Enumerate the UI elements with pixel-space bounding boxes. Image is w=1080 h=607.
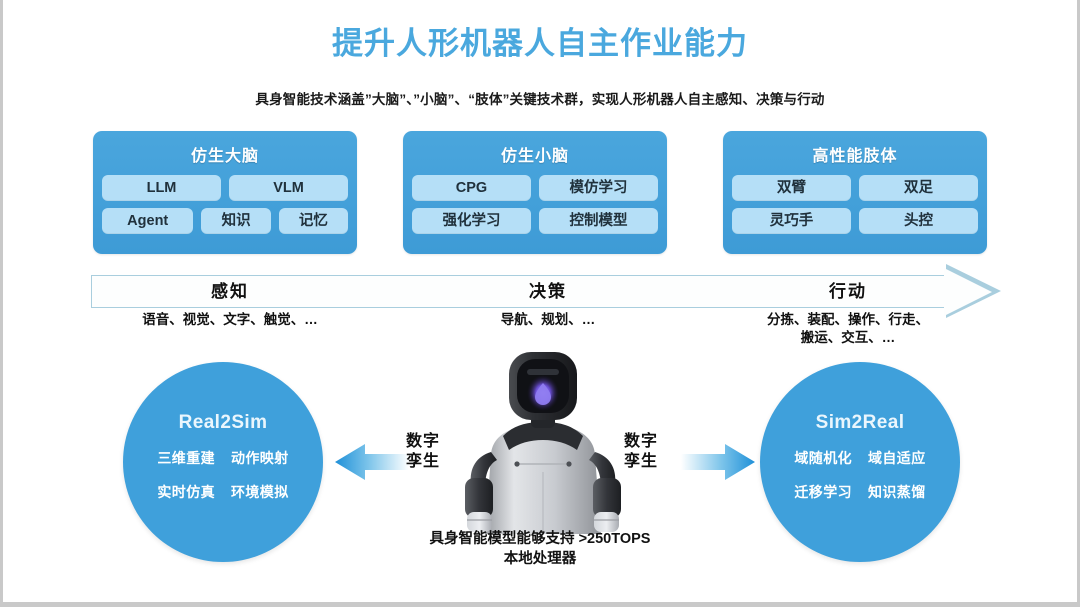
circle-title: Real2Sim [123, 412, 323, 434]
pipeline-stage-name: 决策 [433, 275, 663, 308]
circle-tag: 实时仿真 [157, 482, 215, 502]
capability-box-title: 仿生大脑 [102, 142, 348, 166]
slide-canvas: 提升人形机器人自主作业能力 具身智能技术涵盖”大脑”、”小脑”、“肢体”关键技术… [0, 0, 1080, 607]
capability-chip[interactable]: 双臂 [732, 175, 851, 201]
pipeline-stage-desc: 分拣、装配、操作、行走、 搬运、交互、… [733, 311, 963, 347]
capability-row: Agent 知识 记忆 [102, 208, 348, 234]
pipeline-stage-perception: 感知 语音、视觉、文字、触觉、… [105, 275, 355, 329]
capability-row: 双臂 双足 [732, 175, 978, 201]
circle-tag: 迁移学习 [794, 482, 852, 502]
capability-chip[interactable]: 灵巧手 [732, 208, 851, 234]
capability-box-title: 仿生小脑 [412, 142, 658, 166]
page-subtitle: 具身智能技术涵盖”大脑”、”小脑”、“肢体”关键技术群，实现人形机器人自主感知、… [3, 88, 1077, 108]
pipeline-stage-name: 行动 [733, 275, 963, 308]
arrow-left-icon [335, 442, 409, 482]
capability-chip[interactable]: 强化学习 [412, 208, 531, 234]
circle-tag: 知识蒸馏 [868, 482, 926, 502]
circle-tag: 域随机化 [794, 448, 852, 468]
arrow-right-icon [681, 442, 755, 482]
capability-chip[interactable]: 记忆 [279, 208, 348, 234]
page-title: 提升人形机器人自主作业能力 [3, 18, 1077, 63]
pipeline-stage-desc: 导航、规划、… [433, 311, 663, 329]
capability-chip[interactable]: CPG [412, 175, 531, 201]
capability-chip[interactable]: 双足 [859, 175, 978, 201]
footnote-text: 具身智能模型能够支持 >250TOPS 本地处理器 [3, 529, 1077, 569]
circle-row: 域随机化 域自适应 [760, 448, 960, 468]
circle-tag: 三维重建 [157, 448, 215, 468]
circle-title: Sim2Real [760, 412, 960, 434]
pipeline-stage-action: 行动 分拣、装配、操作、行走、 搬运、交互、… [733, 275, 963, 347]
capability-chip[interactable]: 控制模型 [539, 208, 658, 234]
pipeline-stage-desc: 语音、视觉、文字、触觉、… [105, 311, 355, 329]
circle-tag: 动作映射 [231, 448, 289, 468]
capability-row: 强化学习 控制模型 [412, 208, 658, 234]
digital-twin-label: 数字 孪生 [399, 432, 447, 472]
capability-box-title: 高性能肢体 [732, 142, 978, 166]
circle-row: 实时仿真 环境模拟 [123, 482, 323, 502]
humanoid-robot-image [455, 352, 631, 534]
capability-chip[interactable]: Agent [102, 208, 193, 234]
capability-row: LLM VLM [102, 175, 348, 201]
capability-chip[interactable]: LLM [102, 175, 221, 201]
capability-box-high-performance-limbs: 高性能肢体 双臂 双足 灵巧手 头控 [723, 131, 987, 254]
capability-chip[interactable]: 模仿学习 [539, 175, 658, 201]
circle-tag: 环境模拟 [231, 482, 289, 502]
capability-row: CPG 模仿学习 [412, 175, 658, 201]
circle-tag: 域自适应 [868, 448, 926, 468]
capability-chip[interactable]: VLM [229, 175, 348, 201]
capability-box-bionic-cerebellum: 仿生小脑 CPG 模仿学习 强化学习 控制模型 [403, 131, 667, 254]
capability-row: 灵巧手 头控 [732, 208, 978, 234]
capability-chip[interactable]: 头控 [859, 208, 978, 234]
circle-row: 三维重建 动作映射 [123, 448, 323, 468]
capability-chip[interactable]: 知识 [201, 208, 270, 234]
circle-row: 迁移学习 知识蒸馏 [760, 482, 960, 502]
capability-box-bionic-brain: 仿生大脑 LLM VLM Agent 知识 记忆 [93, 131, 357, 254]
pipeline-stage-name: 感知 [105, 275, 355, 308]
pipeline-stage-decision: 决策 导航、规划、… [433, 275, 663, 329]
